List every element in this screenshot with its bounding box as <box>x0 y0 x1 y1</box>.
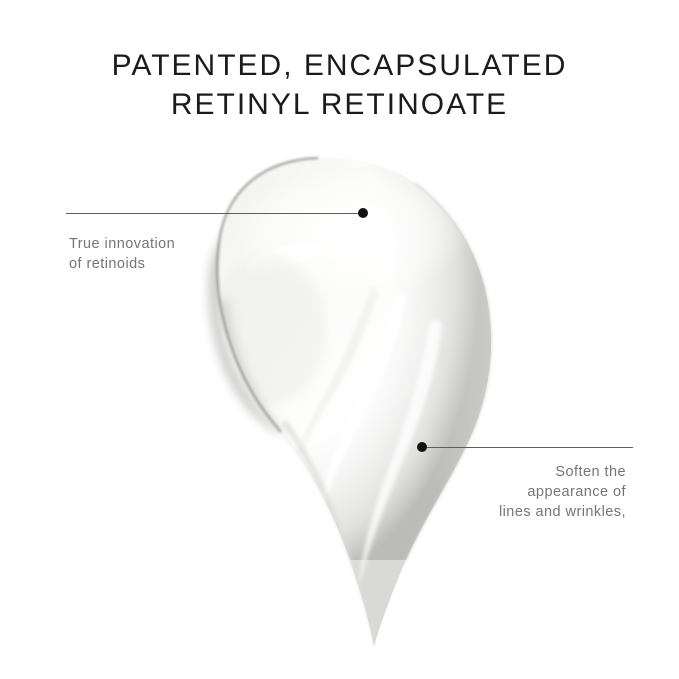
leader-dot-left <box>358 208 368 218</box>
leader-dot-right <box>417 442 427 452</box>
callout-right-text: Soften the appearance of lines and wrink… <box>386 462 626 522</box>
swatch-body <box>180 140 520 679</box>
callout-left-line-2: of retinoids <box>69 254 175 274</box>
leader-line-left <box>66 213 363 214</box>
page-title-line-2: RETINYL RETINOATE <box>0 85 679 124</box>
leader-line-right <box>427 447 633 448</box>
callout-right-line-2: appearance of <box>386 482 626 502</box>
page-title-line-1: PATENTED, ENCAPSULATED <box>0 46 679 85</box>
callout-left-line-1: True innovation <box>69 234 175 254</box>
callout-right-line-3: lines and wrinkles, <box>386 502 626 522</box>
infographic-canvas: PATENTED, ENCAPSULATED RETINYL RETINOATE <box>0 0 679 679</box>
page-title: PATENTED, ENCAPSULATED RETINYL RETINOATE <box>0 46 679 124</box>
callout-left-text: True innovation of retinoids <box>69 234 175 274</box>
callout-right-line-1: Soften the <box>386 462 626 482</box>
